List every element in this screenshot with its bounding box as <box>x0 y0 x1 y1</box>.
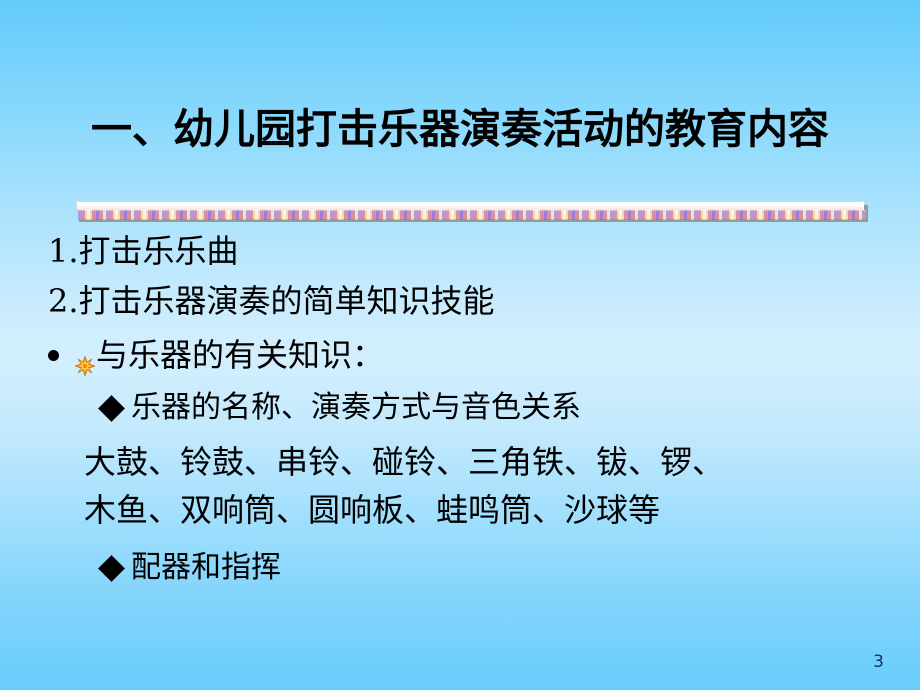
list-item: 配器和指挥 <box>0 544 920 592</box>
page-number: 3 <box>873 652 884 672</box>
list-item: 乐器的名称、演奏方式与音色关系 <box>0 384 920 432</box>
decorative-divider-bar <box>76 201 868 223</box>
starburst-icon <box>75 340 95 360</box>
body-content: 1.打击乐乐曲 2.打击乐器演奏的简单知识技能 与乐器的有关知识： 乐器的名称、… <box>0 228 920 592</box>
diamond-bullet-icon <box>98 555 125 582</box>
list-item: 1.打击乐乐曲 <box>0 228 920 274</box>
list-item-label: 乐器的名称、演奏方式与音色关系 <box>131 384 581 432</box>
diamond-bullet-icon <box>98 395 125 422</box>
page-title: 一、幼儿园打击乐器演奏活动的教育内容 <box>0 106 920 153</box>
list-item: 2.打击乐器演奏的简单知识技能 <box>0 278 920 324</box>
list-item-label: 与乐器的有关知识： <box>96 330 384 380</box>
list-item: 与乐器的有关知识： <box>0 330 920 380</box>
slide-canvas: 一、幼儿园打击乐器演奏活动的教育内容 1.打击乐乐曲 2.打击乐器演奏的简单知识… <box>0 0 920 690</box>
bullet-dot-icon <box>48 350 59 361</box>
list-item: 木鱼、双响筒、圆响板、蛙鸣筒、沙球等 <box>0 486 920 534</box>
divider-pattern-icon <box>78 210 866 220</box>
divider-highlight <box>76 201 864 210</box>
list-item-label: 配器和指挥 <box>131 544 281 592</box>
list-item: 大鼓、铃鼓、串铃、碰铃、三角铁、钹、锣、 <box>0 438 920 486</box>
